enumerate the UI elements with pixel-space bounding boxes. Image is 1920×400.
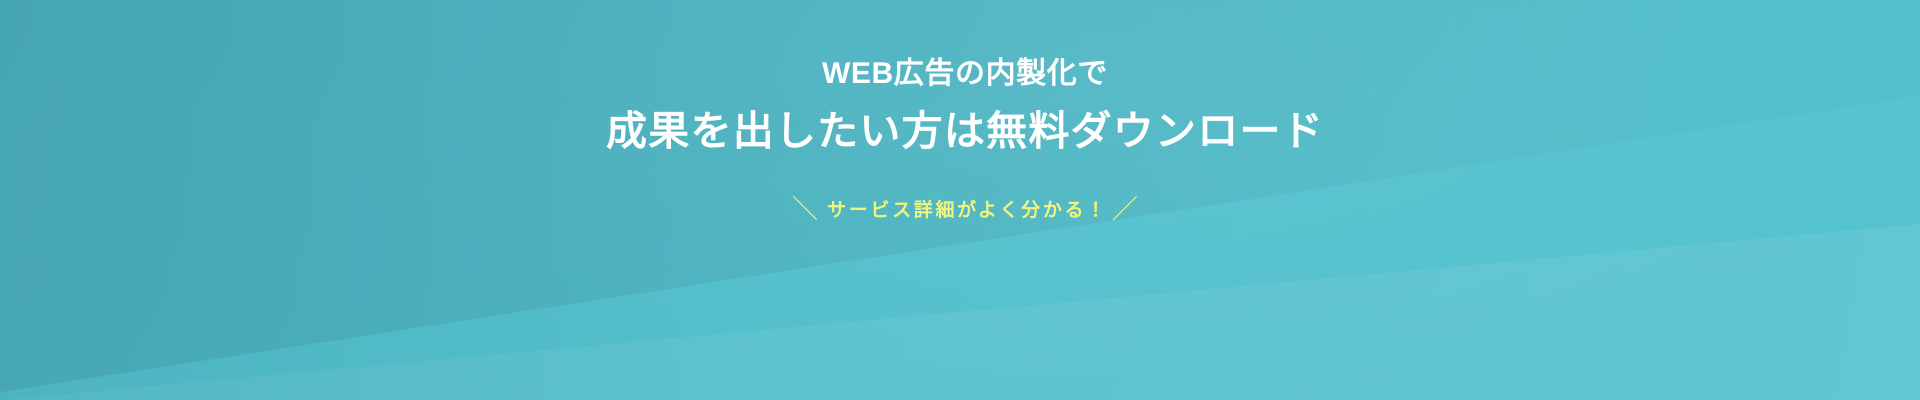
cta-headline-line-1: WEB広告の内製化で: [606, 59, 1324, 89]
cta-banner: WEB広告の内製化で 成果を出したい方は無料ダウンロード ＼ サービス詳細がよく…: [0, 0, 1920, 400]
cta-headline: WEB広告の内製化で 成果を出したい方は無料ダウンロード: [606, 0, 1324, 152]
cta-headline-line-2: 成果を出したい方は無料ダウンロード: [606, 111, 1324, 152]
cta-content: WEB広告の内製化で 成果を出したい方は無料ダウンロード ＼ サービス詳細がよく…: [0, 0, 1920, 400]
cta-subtitle: ＼ サービス詳細がよく分かる！ ／: [792, 197, 1138, 223]
cta-subtitle-text: サービス詳細がよく分かる！: [827, 201, 1108, 220]
slash-left-decoration-icon: ＼: [792, 196, 818, 222]
slash-right-decoration-icon: ／: [1112, 196, 1138, 222]
